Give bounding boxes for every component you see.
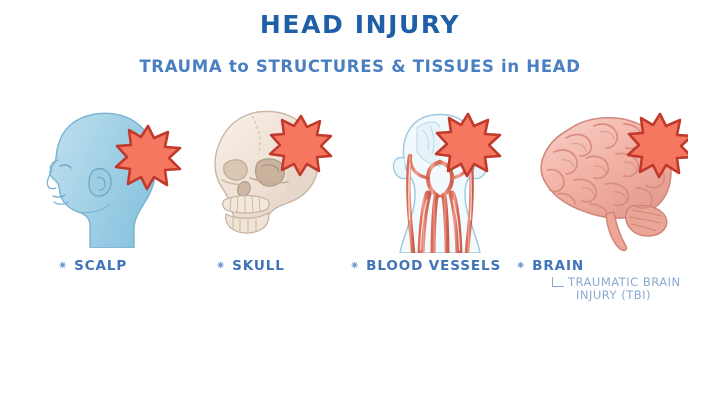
- subtitle-word-to: to: [229, 57, 250, 76]
- label-skull[interactable]: ✷ SKULL: [216, 258, 285, 274]
- label-brain-text: BRAIN: [532, 258, 584, 274]
- label-brain[interactable]: ✷ BRAIN: [516, 258, 584, 274]
- figure-skull: [200, 108, 345, 248]
- label-scalp[interactable]: ✷ SCALP: [58, 258, 127, 274]
- label-scalp-text: SCALP: [74, 258, 127, 274]
- subtitle-segment-1: TRAUMA: [139, 57, 228, 76]
- brain-icon: [528, 108, 688, 253]
- star-bullet-icon: ✷: [516, 260, 526, 271]
- label-skull-text: SKULL: [232, 258, 285, 274]
- head-injury-illustration: HEAD INJURY TRAUMA to STRUCTURES & TISSU…: [0, 0, 720, 404]
- page-title: HEAD INJURY: [0, 10, 720, 39]
- subtitle-segment-2: STRUCTURES & TISSUES: [249, 57, 501, 76]
- elbow-connector-icon: [552, 277, 564, 287]
- skull-icon: [200, 108, 345, 248]
- page-subtitle: TRAUMA to STRUCTURES & TISSUES in HEAD: [0, 57, 720, 76]
- figure-brain: [528, 108, 688, 253]
- sublabel-tbi-line2: INJURY (TBI): [568, 289, 681, 302]
- label-blood-vessels[interactable]: ✷ BLOOD VESSELS: [350, 258, 501, 274]
- head-profile-icon: [34, 108, 184, 248]
- subtitle-segment-3: HEAD: [520, 57, 581, 76]
- sublabel-tbi: TRAUMATIC BRAIN INJURY (TBI): [568, 276, 681, 302]
- star-bullet-icon: ✷: [216, 260, 226, 271]
- star-bullet-icon: ✷: [350, 260, 360, 271]
- subtitle-word-in: in: [501, 57, 520, 76]
- label-blood-vessels-text: BLOOD VESSELS: [366, 258, 501, 274]
- head-blood-vessels-icon: [372, 108, 512, 253]
- figure-blood-vessels: [372, 108, 512, 253]
- figure-scalp: [34, 108, 184, 248]
- star-bullet-icon: ✷: [58, 260, 68, 271]
